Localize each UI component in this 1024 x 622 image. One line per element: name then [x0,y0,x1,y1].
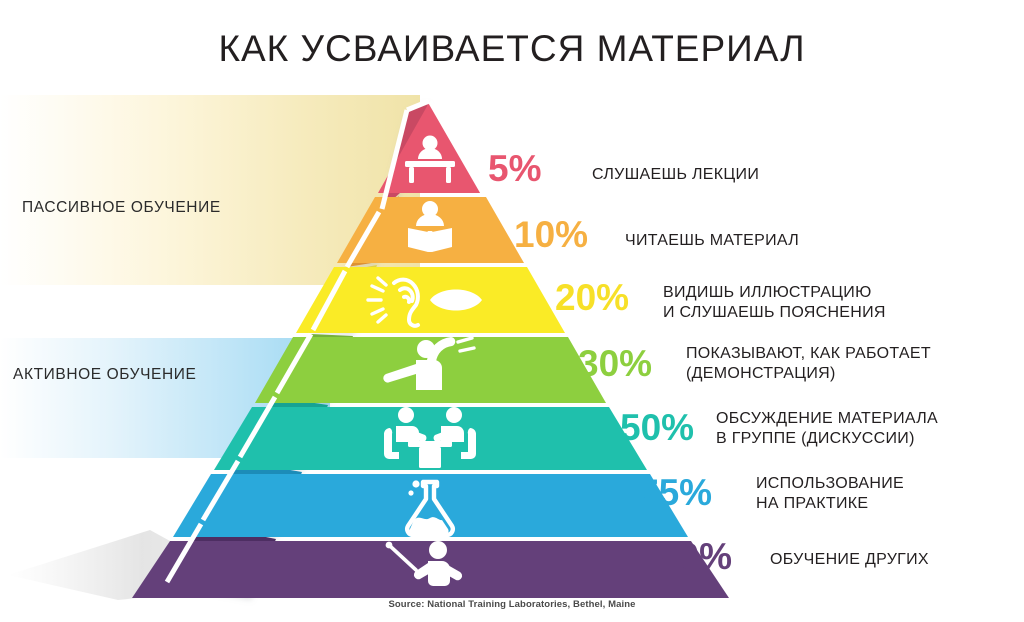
infographic-canvas: КАК УСВАИВАЕТСЯ МАТЕРИАЛ ПАССИВНОЕ ОБУЧЕ… [0,0,1024,622]
source-caption: Source: National Training Laboratories, … [0,599,1024,610]
percent-value-practice: 75% [638,472,712,513]
percent-value-reading: 10% [514,214,588,255]
tier-row-reading: 10% [514,216,588,253]
tier-desc-discussion: ОБСУЖДЕНИЕ МАТЕРИАЛА В ГРУППЕ (ДИСКУССИИ… [716,409,938,448]
tier-desc-teaching: ОБУЧЕНИЕ ДРУГИХ [770,550,929,570]
tier-row-demonstration: 30% [578,345,652,382]
tier-row-discussion: 50% [620,409,694,446]
percent-value-lecture: 5% [488,148,541,189]
tier-desc-lecture: СЛУШАЕШЬ ЛЕКЦИИ [592,165,759,185]
percent-value-discussion: 50% [620,407,694,448]
tier-desc-practice: ИСПОЛЬЗОВАНИЕ НА ПРАКТИКЕ [756,474,904,513]
percent-value-demonstration: 30% [578,343,652,384]
percent-value-audiovisual: 20% [555,277,629,318]
tier-row-practice: 75% [638,474,712,511]
tier-row-audiovisual: 20% [555,279,629,316]
tier-desc-demonstration: ПОКАЗЫВАЮТ, КАК РАБОТАЕТ (ДЕМОНСТРАЦИЯ) [686,344,931,383]
tier-row-lecture: 5% [488,150,541,187]
percent-value-teaching: 90% [658,536,732,577]
tier-desc-audiovisual: ВИДИШЬ ИЛЛЮСТРАЦИЮ И СЛУШАЕШЬ ПОЯСНЕНИЯ [663,283,886,322]
tier-row-teaching: 90% [658,538,732,575]
tier-desc-reading: ЧИТАЕШЬ МАТЕРИАЛ [625,231,799,251]
